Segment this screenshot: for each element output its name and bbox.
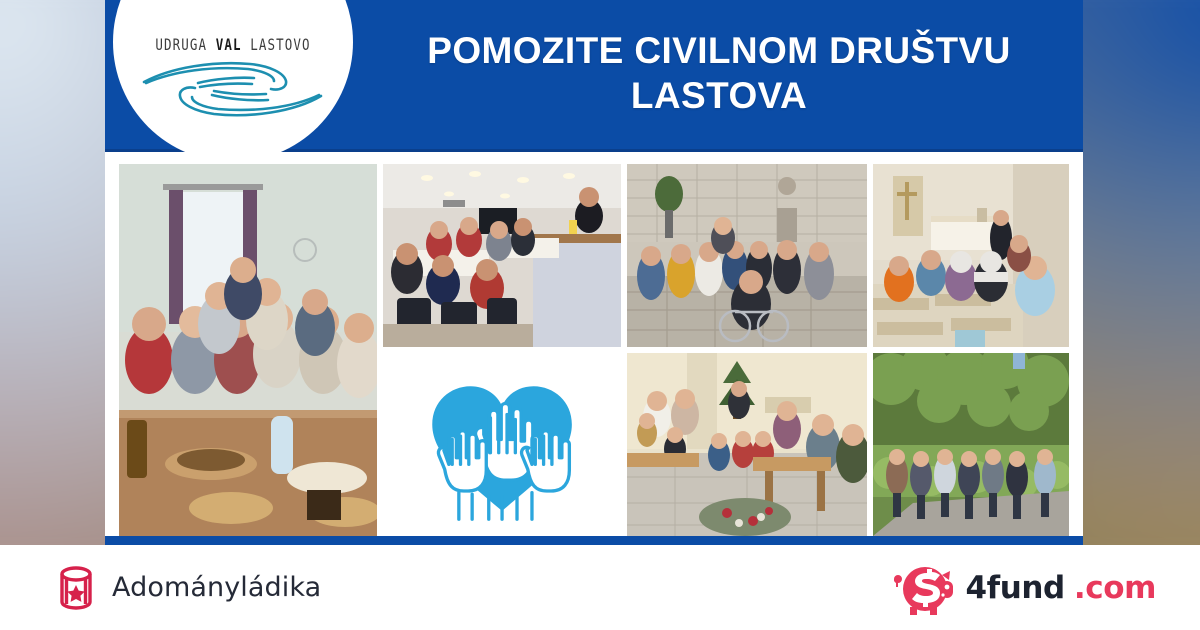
footer-site-logo[interactable]: 4fund .com [884,545,1156,630]
footer-brand-label: Adományládika [112,572,321,603]
site-name-label: 4fund [965,570,1064,606]
photo-group-living-room [119,164,377,536]
hero-area: UDRUGA VAL LASTOVO [0,0,1200,545]
photo-chapel-gathering [873,164,1069,347]
hands-heart-icon [414,368,590,522]
footer-bar: Adományládika 4fund .com [0,545,1200,630]
icon-hands-heart [383,353,621,536]
site-tld-label: .com [1074,570,1156,606]
donation-box-icon [56,566,96,610]
card-bottom-band [105,536,1083,545]
promo-banner: UDRUGA VAL LASTOVO [0,0,1200,630]
piggy-bank-icon [884,561,956,615]
logo-text-after: LASTOVO [242,35,311,54]
campaign-title-text: POMOZITE CIVILNOM DRUŠTVU LASTOVA [373,28,1065,118]
footer-brand[interactable]: Adományládika [56,545,321,630]
photo-community-hall-meeting [383,164,621,347]
photo-outdoor-walk [873,353,1069,536]
logo-text-bold: VAL [216,35,242,54]
campaign-title: POMOZITE CIVILNOM DRUŠTVU LASTOVA [355,0,1083,152]
organization-logo: UDRUGA VAL LASTOVO [113,0,353,162]
photo-christmas-workshop [627,353,867,536]
photo-collage [105,152,1083,545]
organization-logo-text: UDRUGA VAL LASTOVO [155,35,310,54]
header-band: UDRUGA VAL LASTOVO [105,0,1083,152]
campaign-card: UDRUGA VAL LASTOVO [105,0,1083,545]
two-hands-wave-icon [138,56,328,120]
photo-street-group-wheelchair [627,164,867,347]
logo-text-before: UDRUGA [155,35,215,54]
